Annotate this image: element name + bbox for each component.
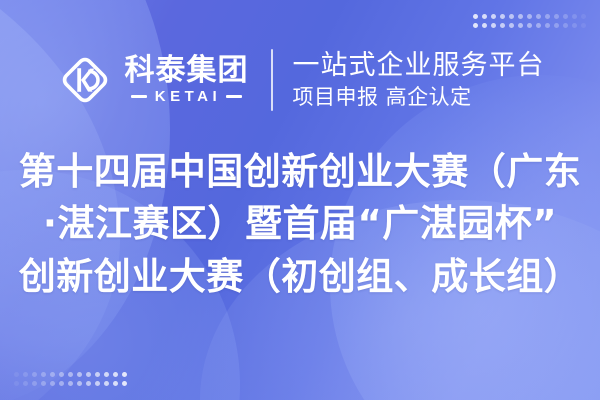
dot — [113, 381, 118, 386]
dot — [50, 381, 55, 386]
dot — [527, 14, 532, 19]
dot — [509, 14, 514, 19]
dot — [50, 372, 55, 377]
dot — [95, 381, 100, 386]
wordmark-rule-left — [131, 95, 147, 98]
dot — [14, 381, 19, 386]
company-name-en: KETAI — [152, 89, 221, 104]
dot — [545, 23, 550, 28]
dot — [500, 23, 505, 28]
dot — [491, 14, 496, 19]
wordmark-rule-right — [226, 95, 242, 98]
dot — [23, 381, 28, 386]
company-name-en-row: KETAI — [131, 89, 242, 104]
dot-grid-top-right — [473, 14, 586, 28]
dot — [482, 23, 487, 28]
dot-grid-row — [473, 23, 586, 28]
title-line: 创新创业大赛（初创组、成长组） — [19, 255, 582, 299]
ketai-logo-wordmark: 科泰集团 KETAI — [125, 56, 249, 104]
dot — [32, 372, 37, 377]
dot — [536, 23, 541, 28]
dot — [59, 381, 64, 386]
header-tagline: 一站式企业服务平台 项目申报 高企认定 — [293, 52, 545, 107]
tagline-secondary: 项目申报 高企认定 — [293, 86, 545, 108]
dot — [572, 14, 577, 19]
dot — [23, 372, 28, 377]
dot — [95, 372, 100, 377]
dot-grid-row — [473, 14, 586, 19]
company-name-cn: 科泰集团 — [125, 56, 249, 86]
dot — [545, 14, 550, 19]
dot-grid-bottom-left — [14, 372, 127, 386]
header-divider — [271, 49, 273, 111]
banner-title: 第十四届中国创新创业大赛（广东·湛江赛区）暨首届“广湛园杯”创新创业大赛（初创组… — [0, 150, 600, 299]
dot — [536, 14, 541, 19]
dot — [113, 372, 118, 377]
tagline-primary: 一站式企业服务平台 — [293, 52, 545, 80]
ketai-diamond-kd-logo-icon — [56, 51, 114, 109]
dot — [104, 372, 109, 377]
promo-banner: 科泰集团 KETAI 一站式企业服务平台 项目申报 高企认定 第十四届中国创新创… — [0, 0, 600, 400]
dot — [473, 14, 478, 19]
dot — [77, 381, 82, 386]
title-line: ·湛江赛区）暨首届“广湛园杯” — [43, 202, 557, 246]
dot — [41, 381, 46, 386]
dot — [509, 23, 514, 28]
dot — [86, 372, 91, 377]
dot — [14, 372, 19, 377]
dot — [473, 23, 478, 28]
dot — [563, 14, 568, 19]
dot — [59, 372, 64, 377]
dot — [68, 381, 73, 386]
dot — [122, 372, 127, 377]
dot — [41, 372, 46, 377]
dot — [518, 14, 523, 19]
title-line: 第十四届中国创新创业大赛（广东 — [19, 150, 582, 194]
dot — [527, 23, 532, 28]
dot — [68, 372, 73, 377]
dot — [572, 23, 577, 28]
ketai-logo: 科泰集团 KETAI — [56, 51, 249, 109]
dot — [500, 14, 505, 19]
dot — [104, 381, 109, 386]
dot — [581, 23, 586, 28]
banner-header: 科泰集团 KETAI 一站式企业服务平台 项目申报 高企认定 — [0, 40, 600, 120]
dot-grid-row — [14, 372, 127, 377]
dot — [86, 381, 91, 386]
dot — [554, 14, 559, 19]
dot — [581, 14, 586, 19]
dot — [491, 23, 496, 28]
dot — [122, 381, 127, 386]
dot — [554, 23, 559, 28]
dot — [518, 23, 523, 28]
dot — [563, 23, 568, 28]
dot — [482, 14, 487, 19]
dot — [77, 372, 82, 377]
dot — [32, 381, 37, 386]
dot-grid-row — [14, 381, 127, 386]
